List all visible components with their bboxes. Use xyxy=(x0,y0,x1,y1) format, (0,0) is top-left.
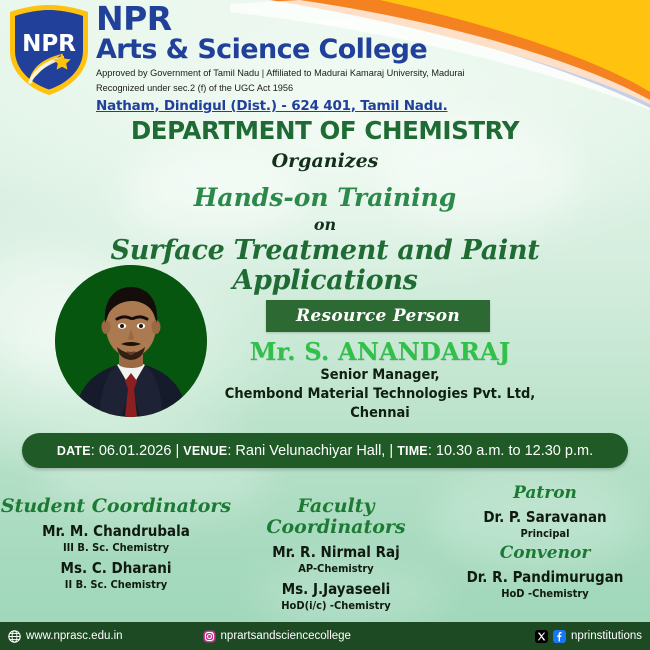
patron-name: Dr. P. Saravanan xyxy=(440,508,650,526)
sep-colon-2: : xyxy=(227,443,231,459)
resource-person-banner: Resource Person xyxy=(266,300,490,332)
faculty-coordinator-1-name: Mr. R. Nirmal Raj xyxy=(232,543,440,561)
footer-website-item[interactable]: www.nprasc.edu.in xyxy=(8,630,123,643)
date-key: DATE xyxy=(57,444,91,458)
accreditation-line-1: Approved by Government of Tamil Nadu | A… xyxy=(96,67,516,80)
college-address: Natham, Dindigul (Dist.) - 624 401, Tami… xyxy=(96,98,516,114)
event-details-bar: DATE: 06.01.2026 | VENUE: Rani Velunachi… xyxy=(22,433,628,468)
student-coordinator-1-designation: III B. Sc. Chemistry xyxy=(0,541,232,554)
resource-person-city: Chennai xyxy=(205,404,555,423)
resource-person-name: Mr. S. ANANDARAJ xyxy=(230,337,530,366)
footer-bar: www.nprasc.edu.in nprartsandsciencecolle… xyxy=(0,622,650,650)
patron-designation: Principal xyxy=(440,527,650,540)
portrait-illustration xyxy=(55,265,207,417)
patron-convenor-column: Patron Dr. P. Saravanan Principal Conven… xyxy=(440,484,650,622)
sep-pipe-1: | xyxy=(175,443,179,459)
time-value: 10.30 a.m. to 12.30 p.m. xyxy=(436,443,593,459)
event-details-text: DATE: 06.01.2026 | VENUE: Rani Velunachi… xyxy=(57,443,593,459)
coordinators-section: Student Coordinators Mr. M. Chandrubala … xyxy=(0,496,650,622)
facebook-icon xyxy=(553,630,566,643)
student-coordinator-2-name: Ms. C. Dharani xyxy=(0,559,232,577)
sep-colon-1: : xyxy=(91,443,95,459)
accreditation-line-2: Recognized under sec.2 (f) of the UGC Ac… xyxy=(96,82,516,95)
venue-value: Rani Velunachiyar Hall, xyxy=(235,443,385,459)
patron-heading: Patron xyxy=(440,484,650,503)
student-coordinator-2-designation: II B. Sc. Chemistry xyxy=(0,578,232,591)
footer-social-item[interactable]: nprinstitutions xyxy=(535,630,642,643)
department-title: DEPARTMENT OF CHEMISTRY xyxy=(0,116,650,145)
x-twitter-icon xyxy=(535,630,548,643)
venue-key: VENUE xyxy=(183,444,227,458)
svg-text:NPR: NPR xyxy=(22,31,76,57)
convenor-name: Dr. R. Pandimurugan xyxy=(440,568,650,586)
college-name-line2: Arts & Science College xyxy=(96,35,516,65)
resource-person-banner-label: Resource Person xyxy=(296,306,460,326)
convenor-designation: HoD -Chemistry xyxy=(440,587,650,600)
footer-website-text: www.nprasc.edu.in xyxy=(26,630,123,642)
globe-icon xyxy=(8,630,21,643)
organizes-label: Organizes xyxy=(0,150,650,172)
resource-person-photo xyxy=(55,265,207,417)
instagram-icon xyxy=(203,630,216,643)
npr-shield-logo: NPR xyxy=(6,3,92,97)
convenor-heading: Convenor xyxy=(440,544,650,563)
date-value: 06.01.2026 xyxy=(99,443,172,459)
college-name-line1: NPR xyxy=(96,2,516,35)
on-label: on xyxy=(0,215,650,234)
sep-pipe-2: | xyxy=(389,443,393,459)
student-coordinators-column: Student Coordinators Mr. M. Chandrubala … xyxy=(0,496,232,622)
resource-person-details: Senior Manager, Chembond Material Techno… xyxy=(205,366,555,423)
faculty-coordinator-2-name: Ms. J.Jayaseeli xyxy=(232,580,440,598)
faculty-coordinators-column: Faculty Coordinators Mr. R. Nirmal Raj A… xyxy=(232,496,440,622)
sep-colon-3: : xyxy=(428,443,432,459)
student-coordinators-heading: Student Coordinators xyxy=(0,496,232,517)
event-topic-line1: Surface Treatment and Paint xyxy=(30,236,620,266)
resource-person-designation: Senior Manager, xyxy=(205,366,555,385)
faculty-coordinator-1-designation: AP-Chemistry xyxy=(232,562,440,575)
poster-canvas: NPR NPR Arts & Science College Approved … xyxy=(0,0,650,650)
footer-social-handle-text: nprinstitutions xyxy=(571,630,642,642)
header-text-block: NPR Arts & Science College Approved by G… xyxy=(96,2,516,114)
faculty-coordinators-heading: Faculty Coordinators xyxy=(232,496,440,538)
faculty-coordinator-2-designation: HoD(i/c) -Chemistry xyxy=(232,599,440,612)
footer-instagram-item[interactable]: nprartsandsciencecollege xyxy=(203,630,351,643)
event-type-title: Hands-on Training xyxy=(0,183,650,212)
time-key: TIME xyxy=(397,444,428,458)
footer-instagram-text: nprartsandsciencecollege xyxy=(221,630,351,642)
resource-person-organization: Chembond Material Technologies Pvt. Ltd, xyxy=(205,385,555,404)
student-coordinator-1-name: Mr. M. Chandrubala xyxy=(0,522,232,540)
